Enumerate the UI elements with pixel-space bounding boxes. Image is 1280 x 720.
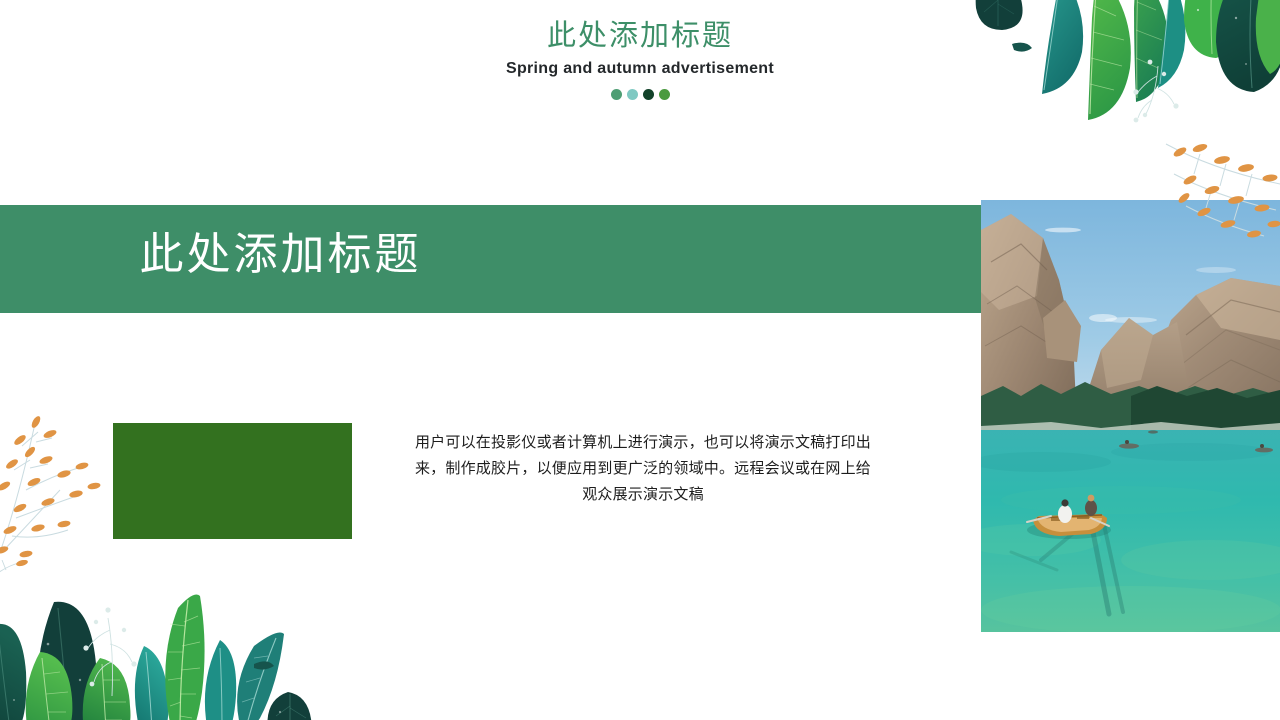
dot-4-icon [659, 89, 670, 100]
left-orange-sprig-decoration [0, 398, 116, 576]
body-paragraph: 用户可以在投影仪或者计算机上进行演示，也可以将演示文稿打印出来，制作成胶片，以便… [408, 430, 878, 508]
dot-2-icon [627, 89, 638, 100]
image-placeholder-box[interactable] [113, 423, 352, 539]
dot-indicator-row [0, 89, 1280, 100]
section-title: 此处添加标题 [0, 225, 981, 285]
lake-photo [981, 200, 1280, 632]
slide-canvas: 此处添加标题 Spring and autumn advertisement 此… [0, 0, 1280, 720]
slide-header: 此处添加标题 Spring and autumn advertisement [0, 18, 1280, 100]
page-title: 此处添加标题 [0, 18, 1280, 54]
section-banner: 此处添加标题 [0, 205, 981, 313]
dot-3-icon [643, 89, 654, 100]
bottom-left-leaf-decoration [0, 560, 352, 720]
dot-1-icon [611, 89, 622, 100]
page-subtitle: Spring and autumn advertisement [0, 58, 1280, 80]
